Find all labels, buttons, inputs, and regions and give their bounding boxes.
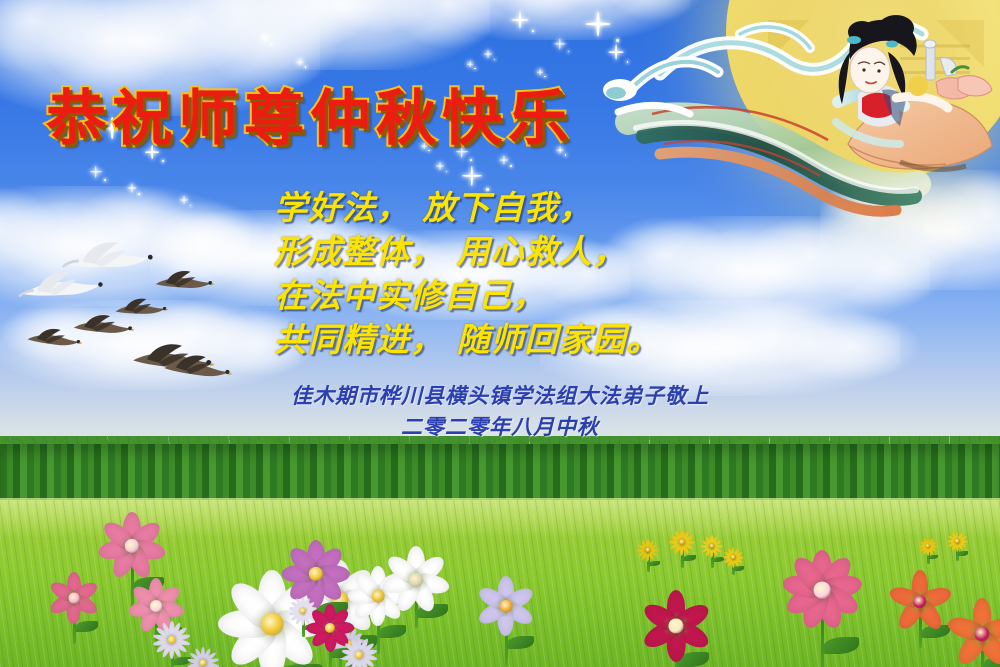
pink-rose-left2 [48,572,100,667]
flower-petals [700,534,724,558]
flower-core [814,582,831,599]
poem-line-1: 学好法， 放下自我， [274,186,661,230]
flower-core [150,600,162,612]
flower-petals [382,546,450,614]
flower-core [645,547,650,552]
flower-leaf [507,636,534,649]
flower-petals [946,598,1000,667]
sparkle-dot-icon [470,159,472,161]
daisy-2 [186,646,220,667]
flower-leaf [823,637,859,654]
flower-petals [946,530,968,552]
flower-core [709,543,714,548]
sparkle-dot-icon [270,43,272,45]
signature-line-1: 佳木期市桦川县横头镇学法组大法弟子敬上 [0,381,1000,412]
crimson-bloom [640,590,712,667]
sparkle-dot-icon [474,68,476,70]
orange-orchid-2 [946,598,1000,667]
flower-petals [722,546,744,568]
flower-core [261,613,284,636]
sparkle-dot-icon [616,39,619,42]
flower-core [955,539,960,544]
greeting-card: 恭祝师尊仲秋快乐 学好法， 放下自我，形成整体， 用心救人，在法中实修自己，共同… [0,0,1000,667]
dandelion-5 [946,530,968,572]
goose-bird-icon [152,268,214,297]
dandelion-2 [700,534,724,580]
flower-petals [636,538,660,562]
poem-block: 学好法， 放下自我，形成整体， 用心救人，在法中实修自己，共同精进， 随师回家园… [274,186,661,362]
flower-petals [640,590,712,662]
flower-petals [668,528,696,556]
poem-line-4: 共同精进， 随师回家园。 [274,318,661,362]
white-cosmos-r [382,546,450,662]
flower-petals [918,536,938,556]
sparkle-dot-icon [162,160,164,162]
flower-core [500,600,513,613]
flower-core [69,593,80,604]
orange-orchid-1 [888,570,952,667]
goose-bird-icon [112,295,169,323]
flower-petals [98,512,166,580]
cloud-puff [778,312,922,381]
poem-line-2: 形成整体， 用心救人， [274,230,661,274]
dandelion-cluster [668,528,696,582]
flower-petals [888,570,952,634]
crane-bird-icon [61,235,156,284]
card-title: 恭祝师尊仲秋快乐 [46,70,574,157]
sparkle-dot-icon [510,165,512,167]
poem-line-3: 在法中实修自己， [274,274,661,318]
flower-petals [782,550,862,630]
flower-petals [48,572,100,624]
sparkle-dot-icon [138,193,140,195]
daisy-5 [340,636,378,667]
signature-block: 佳木期市桦川县横头镇学法组大法弟子敬上二零二零年八月中秋 [0,381,1000,443]
flower-core [355,651,363,659]
signature-line-2: 二零二零年八月中秋 [0,412,1000,443]
flower-petals [340,636,378,667]
dandelion-4 [722,546,744,586]
flower-core [679,539,685,545]
flower-core [731,555,736,560]
pink-rose-right [782,550,862,667]
crocus-purple [476,576,536,667]
dandelion-3 [636,538,660,584]
flower-petals [476,576,536,636]
dandelion-6 [918,536,938,574]
sparkle-dot-icon [104,179,106,181]
flower-petals [186,646,220,667]
